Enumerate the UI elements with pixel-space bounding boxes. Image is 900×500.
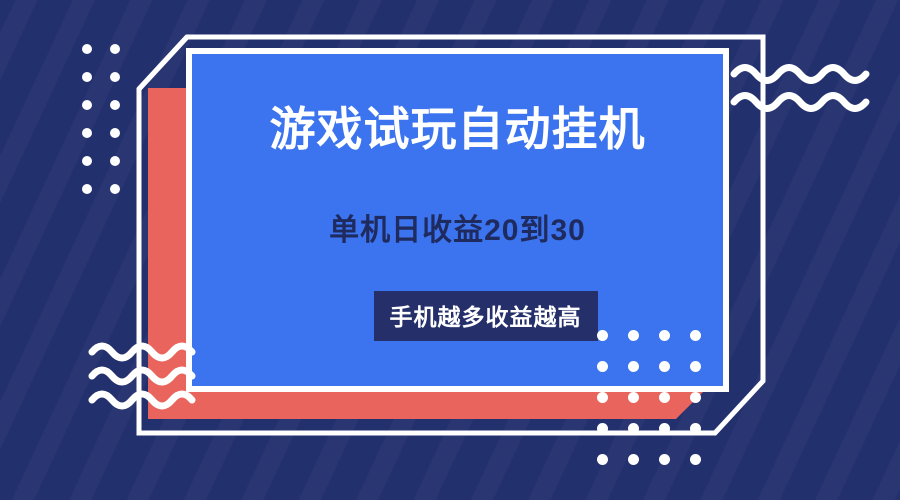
frame-notch-top-left	[139, 37, 187, 89]
dot	[659, 454, 670, 465]
waves-bottom-left-svg	[88, 340, 198, 420]
wave-line	[92, 394, 192, 406]
dot	[82, 100, 92, 110]
tagline-box: 手机越多收益越高	[374, 291, 598, 341]
dot	[82, 72, 92, 82]
dot	[110, 128, 120, 138]
dot	[110, 44, 120, 54]
dot	[110, 156, 120, 166]
tagline: 手机越多收益越高	[390, 298, 582, 332]
waves-top-right-svg	[730, 58, 880, 128]
wave-line	[92, 346, 192, 358]
wave-line	[734, 96, 866, 109]
dot	[628, 454, 639, 465]
dot	[690, 392, 701, 403]
dot	[690, 454, 701, 465]
dot	[659, 392, 670, 403]
dot	[690, 361, 701, 372]
dot	[628, 392, 639, 403]
dot	[82, 128, 92, 138]
dot-grid-right	[597, 330, 701, 465]
wave-line	[92, 370, 192, 382]
dot	[82, 156, 92, 166]
poster-canvas: 游戏试玩自动挂机 单机日收益20到30 手机越多收益越高	[0, 0, 900, 500]
dot	[659, 361, 670, 372]
dot	[690, 330, 701, 341]
dot	[628, 330, 639, 341]
wave-line	[734, 68, 866, 81]
dot	[690, 423, 701, 434]
dot	[110, 72, 120, 82]
dot	[82, 44, 92, 54]
subheadline: 单机日收益20到30	[329, 205, 586, 249]
dot	[628, 361, 639, 372]
dot	[597, 392, 608, 403]
dot	[110, 100, 120, 110]
dot	[597, 361, 608, 372]
wave-lines-top-right	[730, 58, 880, 133]
wave-lines-bottom-left	[88, 340, 198, 425]
dot	[597, 423, 608, 434]
dot	[597, 454, 608, 465]
dot	[659, 423, 670, 434]
dot	[659, 330, 670, 341]
dot	[628, 423, 639, 434]
headline: 游戏试玩自动挂机	[270, 104, 646, 155]
dot-grid-left	[82, 44, 120, 194]
dot	[82, 184, 92, 194]
dot	[597, 330, 608, 341]
dot	[110, 184, 120, 194]
